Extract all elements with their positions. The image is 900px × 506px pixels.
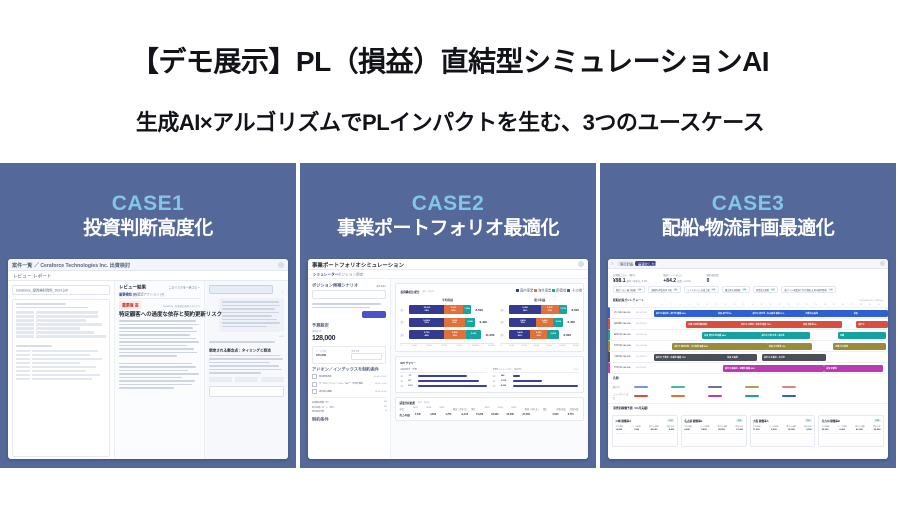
port-metric-label: 最大入港数 <box>718 425 727 428</box>
port-metric-value: 36,000 <box>788 429 795 431</box>
port-metric-label: バース稼働 <box>838 425 847 428</box>
legend-swatch <box>708 386 722 389</box>
legend-swatch <box>745 386 759 389</box>
document-select-value: Ceraforce_投資検討資料_2024.pdf <box>16 287 68 293</box>
port-metric-label: 平均滞船 <box>616 425 624 428</box>
filter-chip[interactable]: 船プール本数割り付け制限・入港可能時間帯ON <box>781 286 836 293</box>
vessel-id: IMO-9488270 <box>636 356 654 358</box>
case1-review-column: レビュー結果 このリスクを一括コピー 重要検知 (8) 確認アクション (4) … <box>115 281 205 459</box>
filter-chip-badge: ON <box>673 289 678 291</box>
time-tick: 21 <box>794 304 802 306</box>
port-metric-values: 9,6005,80038,00012,000 <box>684 429 743 431</box>
gantt-task-label: 荷役 神戸港 6h <box>718 312 731 315</box>
port-status-badge: 注意 <box>874 419 881 422</box>
chart-x-axis: 02,0004,0006,0008,00010,00012,000 <box>500 343 579 347</box>
legend-group-label: ニューポート入れ <box>613 392 629 400</box>
gantt-track: 航行中 鹿島港→室蘭港 積載 88%荷役 室蘭港 <box>654 365 884 372</box>
chat-action-risk[interactable] <box>235 377 258 382</box>
risk-heading: 特定顧客への過度な依存と契約更新リスク <box>119 310 248 318</box>
case-panel-3[interactable]: CASE3 配船・物流計画最適化 ☰ 現行計画 最適化した案 計画総コスト <box>600 163 896 468</box>
slide-page: 【デモ展示】PL（損益）直結型シミュレーションAI 生成AI×アルゴリズムでPL… <box>0 0 900 506</box>
port-card[interactable]: 名古屋 稼働率B良好平均滞船バース稼働最大入港数荷役効率9,6005,80038… <box>681 415 747 447</box>
bottom-title: 制約条件 <box>312 416 424 422</box>
legend-item: その他 <box>572 287 582 293</box>
port-card[interactable]: 川崎 稼働率A良好平均滞船バース稼働最大入港数荷役効率12,8007,90045… <box>612 415 678 447</box>
table-cell: 4,750 <box>445 413 457 417</box>
filter-chip-badge: ON <box>711 289 716 291</box>
gantt-task-label: 航行中 千葉港→水島港 積載 70% <box>656 356 686 359</box>
gantt-task[interactable]: 待機 川崎港 燃料補給 <box>686 321 741 328</box>
case1-tabs: レビュー レポート <box>8 271 288 281</box>
chart-title: 平均利益 <box>400 298 494 302</box>
gantt-task[interactable]: 航行中 水島港→大分港 <box>762 354 826 361</box>
table-header-cell: 2023 <box>485 407 495 411</box>
case1-screenshot: 案件一覧 ／ Ceraforce Technologies Inc. 出資検討 … <box>8 259 288 459</box>
gantt-track: 待機 川崎港 燃料補給航行中 川崎港→博多港 積載 78%荷役 博多港 8h航行… <box>654 321 884 328</box>
port-card-header: 川崎 稼働率A良好 <box>616 419 675 423</box>
tab-review[interactable]: レビュー <box>13 272 32 278</box>
filter-chip-label: 滞船時・荷役効率下限 <box>651 288 671 292</box>
budget-value: 128,000 <box>312 335 386 342</box>
tab-optimized-plan[interactable]: 最適化した案 <box>635 261 655 267</box>
stacked-bar-charts: 平均利益 案1 18,00056% 5,30030% 1,900 8,500 <box>400 298 579 347</box>
table-header-cell: 累計 <box>543 407 553 411</box>
port-metric-label: 最大入港数 <box>786 425 795 428</box>
gantt-task-label: 航行中 四日市港→清水港 <box>762 334 785 337</box>
table-cell: 4,660 <box>430 413 442 417</box>
time-tick: 2 <box>622 304 630 306</box>
filter-chip[interactable]: 滞船時・荷役効率下限ON <box>648 286 681 293</box>
gantt-task-label: 待機 川崎港 燃料補給 <box>688 323 707 326</box>
table-header-cell: 増減（前年比） <box>525 407 540 411</box>
gantt-track: 荷役 四日市港 積載 64%航行中 四日市港→清水港待機 <box>654 332 884 339</box>
table-sub: 単位：百万円 <box>418 401 429 404</box>
case2-tabs: シミュレーター ポジション設定 <box>308 270 588 279</box>
case1-title: 投資判断高度化 <box>0 218 296 241</box>
kpi-right-meta: 前年比 <box>574 368 579 371</box>
checkbox-icon[interactable] <box>312 382 317 387</box>
port-metric-labels: 平均滞船バース稼働最大入港数荷役効率 <box>822 425 881 428</box>
axis-tick: 0 <box>500 345 501 347</box>
kpi-right-title: 予想キャッシュフロー（百万円） <box>493 368 523 371</box>
summary-label: 投資機会総数（件） <box>312 401 330 404</box>
legend-group-label: 航行中 <box>613 385 629 389</box>
axis-tick: 12,000 <box>573 345 579 347</box>
table-header-cell: 2023 <box>413 407 423 411</box>
gantt-task-label: 航行中 鹿島港→室蘭港 積載 88% <box>725 367 755 370</box>
gantt-row[interactable]: ひかり丸 VSL-004IMO-9501433航行中 堺泉北港→苫小牧港 積載 … <box>608 340 888 351</box>
kpi-label: 計画総コスト（億円） <box>613 273 647 277</box>
legend-row: 航行中 <box>608 382 888 392</box>
gantt-task-label: 荷役 水島港 <box>727 356 738 359</box>
legend-swatch <box>634 395 648 398</box>
table-header-cell: 2024 <box>498 407 508 411</box>
legend-row: ニューポート入れ <box>608 392 888 404</box>
case3-filter-chips: 動的コスト最小配船ON滞船時・荷役効率下限ONリアルタイム 充填上限ON積出港入… <box>608 286 888 296</box>
time-tick: 14 <box>730 304 738 306</box>
summary-label: 最大投資リターン（百万） <box>312 406 336 409</box>
port-metric-value: 45,000 <box>651 429 658 431</box>
gantt-task[interactable]: 航行中 千葉港→水島港 積載 70% <box>654 354 727 361</box>
gantt-task[interactable]: 荷役 四日市港 積載 64% <box>702 332 761 339</box>
port-cards: 川崎 稼働率A良好平均滞船バース稼働最大入港数荷役効率12,8007,90045… <box>608 412 888 450</box>
constraint-row[interactable]: 海外拠点・戦略 26,000 / 6,000 <box>312 389 386 394</box>
gantt-task-label: 航行中 水島港→大分港 <box>764 356 785 359</box>
page-title: 【デモ展示】PL（損益）直結型シミュレーションAI <box>0 40 900 80</box>
sensitivity-table: 感度分析結果 単位：百万円 項目202320242025増減（前年比）累計202… <box>395 397 584 421</box>
gantt-task[interactable]: 航行中 <box>856 321 888 328</box>
gantt-task[interactable]: 荷役 水島港 <box>725 354 757 361</box>
table-header-cell: 投資・収支 <box>556 407 566 411</box>
filter-chip-label: 港湾受入制限 <box>756 288 769 292</box>
time-tick: 15 <box>739 304 747 306</box>
port-card[interactable]: 大阪 稼働率A良好平均滞船バース稼働最大入港数荷役効率11,0006,90036… <box>750 415 816 447</box>
gantt-task-label: 待機 <box>840 334 844 337</box>
axis-tick: 8,000 <box>457 345 462 347</box>
filter-chip-label: 動的コスト最小配船 <box>616 288 636 292</box>
gantt-task[interactable]: 荷役 <box>852 310 888 317</box>
case-panel-1[interactable]: CASE1 投資判断高度化 案件一覧 ／ Ceraforce Technolog… <box>0 163 296 468</box>
extra-budget-stepper[interactable] <box>351 353 382 360</box>
review-copy-action[interactable]: このリスクを一括コピー <box>168 284 199 289</box>
axis-tick: 2,000 <box>509 345 514 347</box>
budget-caption: 投資枠合計 <box>312 330 386 333</box>
summary-value: 24 <box>384 401 386 404</box>
chat-timestamp: 10:24 <box>209 336 284 338</box>
constraints-title: アドオン／インデックスを制約条件 <box>312 366 424 372</box>
gantt-task[interactable]: 航行中 堺泉北港→苫小牧港 積載 82% <box>672 343 768 350</box>
time-tick: 12 <box>712 304 720 306</box>
gantt-task[interactable]: 航行中 四日市港→清水港 <box>760 332 810 339</box>
table-header-cell: 増減（前年比） <box>453 407 468 411</box>
port-metric-label: バース稼働 <box>700 425 709 428</box>
constraint-value: 45,000 / 12,000 <box>374 376 387 378</box>
tab-label: 現行計画 <box>620 261 633 267</box>
port-metric-value: 11,000 <box>753 429 760 431</box>
chat-action-detail[interactable] <box>209 377 232 382</box>
legend-item: 国内事業 <box>520 287 533 293</box>
filter-chip[interactable]: 動的コスト最小配船ON <box>613 286 645 293</box>
chat-input[interactable] <box>209 386 284 397</box>
table-header-cell: 回収年数 <box>570 407 580 411</box>
review-tab-actions[interactable]: 確認アクション (4) <box>137 291 164 296</box>
axis-tick: 4,000 <box>427 345 432 347</box>
tab-current-plan[interactable]: 現行計画 <box>617 261 633 267</box>
case-panels: CASE1 投資判断高度化 案件一覧 ／ Ceraforce Technolog… <box>0 163 900 468</box>
gantt-title: 配船計画ガントチャート <box>613 296 649 304</box>
kpi-title: KPI サマリー <box>400 361 579 365</box>
gantt-task[interactable]: 荷役 博多港 8h <box>801 321 842 328</box>
chat-menu-icon[interactable]: ⋮ <box>281 290 284 294</box>
vessel-name: つばさ丸 VSL-005 <box>614 356 636 358</box>
port-metric-label: バース稼働 <box>631 425 640 428</box>
summary-value: 6 <box>385 410 386 413</box>
table-cell: 60,500 <box>507 413 519 417</box>
port-metric-value: 7,900 <box>634 429 639 431</box>
filter-chip-badge: ON <box>770 289 775 291</box>
vessel-name: ひかり丸 VSL-004 <box>614 345 636 347</box>
summary-label: 想定回収年数 <box>312 410 324 413</box>
chat-context-chip[interactable] <box>209 285 273 294</box>
axis-tick: 6,000 <box>534 345 539 347</box>
port-sparkline <box>753 433 812 444</box>
port-status-badge: 良好 <box>805 419 812 422</box>
case1-body: Ceraforce_投資検討資料_2024.pdf <box>8 281 288 459</box>
tab-label: 最適化した案 <box>638 261 658 267</box>
constraint-row[interactable]: 国内新規・既存 45,000 / 12,000 <box>312 374 386 379</box>
gantt-task-label: 待機 苫小牧港 <box>835 345 848 348</box>
vessel-id: IMO-9455206 <box>636 334 654 336</box>
filter-chip-badge: ON <box>742 289 747 291</box>
time-tick: 17 <box>758 304 766 306</box>
gantt-task-label: 航行中 横浜港→神戸港 積載 86% <box>656 312 686 315</box>
table-cell: 3,770 <box>568 413 580 417</box>
chart-header: 投資構成比・配分 <box>400 290 419 294</box>
gantt-task-label: 荷役 <box>854 312 858 315</box>
avatar[interactable] <box>880 261 885 266</box>
allocation-chart-card: 投資構成比・配分 単位：百万円 国内事業 海外事業 新領域 その他 <box>395 283 584 352</box>
document-preview[interactable] <box>12 299 110 457</box>
axis-tick: 4,000 <box>521 345 526 347</box>
scenario-select[interactable] <box>312 290 386 299</box>
legend-swatch <box>708 395 722 398</box>
case3-title: 配船・物流計画最適化 <box>600 218 896 241</box>
filter-chip[interactable]: リアルタイム 充填上限ON <box>684 286 719 293</box>
port-metric-labels: 平均滞船バース稼働最大入港数荷役効率 <box>753 425 812 428</box>
gantt-task-label: 航行中 堺泉北港→苫小牧港 積載 82% <box>674 345 708 348</box>
port-status-badge: 良好 <box>736 419 743 422</box>
gantt-row[interactable]: つばさ丸 VSL-005IMO-9488270航行中 千葉港→水島港 積載 70… <box>608 351 888 362</box>
axis-tick: 10,000 <box>559 345 565 347</box>
port-metric-labels: 平均滞船バース稼働最大入港数荷役効率 <box>616 425 675 428</box>
port-metric-value: 12,800 <box>616 429 623 431</box>
filter-chip[interactable]: 港湾受入制限ON <box>753 286 779 293</box>
kpi-violations: 制約違反数 0 <box>707 273 719 284</box>
constraint-row[interactable]: サービス／ソリューション／ AI・データ分析 領域 38,000 / 9,000 <box>312 382 386 387</box>
base-budget-value: 105,000 <box>316 353 347 357</box>
table-header-cell: 2024 <box>426 407 436 411</box>
port-metric-value: 8,400 <box>669 429 674 431</box>
legend-title: 凡例 <box>608 374 888 382</box>
table-cell: 74,200 <box>476 413 488 417</box>
gantt-track: 航行中 横浜港→神戸港 積載 86%荷役 神戸港 6h航行中 神戸港→名古屋港 … <box>654 310 884 317</box>
case2-label: CASE2 <box>300 193 596 215</box>
gantt-task-label: 荷役 四日市港 積載 64% <box>704 334 726 337</box>
port-metric-value: 5,800 <box>701 429 706 431</box>
gantt-task[interactable]: 航行中 神戸港→名古屋港 積載 91% <box>751 310 806 317</box>
table-header-cell: 累計 <box>471 407 481 411</box>
chart-minimum-profit: 最小利益 案1 9,90054% 5,30031% 1,700 8,000 <box>500 298 579 347</box>
checkbox-icon[interactable] <box>312 374 317 379</box>
case3-label: CASE3 <box>600 193 896 215</box>
review-tab-important[interactable]: 重要検知 (8) <box>119 291 137 296</box>
recalculate-button[interactable] <box>362 311 386 318</box>
gantt-row[interactable]: さくら丸 VSL-001IMO-9412881航行中 横浜港→神戸港 積載 86… <box>608 307 888 318</box>
case1-topbar: 案件一覧 ／ Ceraforce Technologies Inc. 出資検討 <box>8 259 288 271</box>
constraint-label: 国内新規・既存 <box>319 375 372 378</box>
port-name: 北九州 稼働率B <box>822 419 840 423</box>
budget-label: 予算設定 <box>312 322 424 328</box>
case1-chat-column: ⋮ 10:24 <box>205 281 288 459</box>
gantt-row[interactable]: あおば丸 VSL-002IMO-9378112待機 川崎港 燃料補給航行中 川崎… <box>608 318 888 329</box>
port-card[interactable]: 北九州 稼働率B注意平均滞船バース稼働最大入港数荷役効率26,2008,4004… <box>818 415 884 447</box>
chart-title: 最小利益 <box>500 298 579 302</box>
filter-chip-badge: ON <box>828 289 833 291</box>
time-tick: 3 <box>631 304 639 306</box>
port-metric-label: 荷役効率 <box>873 425 881 428</box>
gantt-task[interactable]: 待機 <box>838 332 886 339</box>
filter-chip[interactable]: 積出港入港制限ON <box>722 286 750 293</box>
port-metric-value: 9,600 <box>684 429 689 431</box>
kpi-value: ¥98.1億円 / 前年比 -3.2% <box>613 278 647 284</box>
case1-document-column: Ceraforce_投資検討資料_2024.pdf <box>8 281 115 459</box>
gantt-task[interactable]: 航行中 横浜港→神戸港 積載 86% <box>654 310 718 317</box>
port-metric-values: 26,2008,40041,00020,000 <box>822 429 881 431</box>
case3-topbar: ☰ 現行計画 最適化した案 <box>608 259 888 269</box>
port-sparkline <box>684 433 743 444</box>
case2-title: 事業ポートフォリオ最適化 <box>300 218 596 241</box>
kpi-value: +84.2日数 / +2.1% <box>663 278 690 284</box>
tab-position-settings[interactable]: ポジション設定 <box>338 271 363 277</box>
port-name: 大阪 稼働率A <box>753 419 769 423</box>
filter-chip-badge: ON <box>637 289 642 291</box>
port-metric-value: 9,200 <box>806 429 811 431</box>
case2-topbar: 事業ポートフォリオシミュレーション <box>308 259 588 270</box>
gantt-task[interactable]: 荷役 室蘭港 <box>824 365 883 372</box>
scenario-settings-link[interactable]: 設定を開く <box>376 285 386 288</box>
gantt-task[interactable]: 待機 名古屋港 <box>804 310 854 317</box>
case3-heading: CASE3 配船・物流計画最適化 <box>600 163 896 241</box>
case-panel-2[interactable]: CASE2 事業ポートフォリオ最適化 事業ポートフォリオシミュレーション シミュ… <box>300 163 596 468</box>
case2-screenshot: 事業ポートフォリオシミュレーション シミュレーター ポジション設定 ポジション候… <box>308 259 588 459</box>
time-tick: 30 <box>875 304 883 306</box>
legend-item: 海外事業 <box>538 287 551 293</box>
port-metric-label: 平均滞船 <box>822 425 830 428</box>
gantt-task-label: 荷役 室蘭港 <box>826 367 837 370</box>
gantt-task[interactable]: 荷役 苫小牧港 12h <box>767 343 812 350</box>
table-header-row: 項目202320242025増減（前年比）累計202320242025増減（前年… <box>399 407 580 411</box>
time-tick: 4 <box>640 304 648 306</box>
table-row: 売上・利益4,5404,6604,750+4,15074,20063,90060… <box>399 413 580 417</box>
menu-icon[interactable]: ☰ <box>611 262 614 266</box>
gantt-task[interactable]: 航行中 鹿島港→室蘭港 積載 88% <box>723 365 824 372</box>
time-tick: 6 <box>658 304 666 306</box>
port-name: 川崎 稼働率A <box>616 419 632 423</box>
axis-tick: 8,000 <box>546 345 551 347</box>
table-title: 感度分析結果 <box>399 401 415 405</box>
port-metric-label: 平均滞船 <box>684 425 692 428</box>
document-select[interactable]: Ceraforce_投資検討資料_2024.pdf <box>12 285 110 295</box>
kpi-number: +84.2 <box>663 278 676 284</box>
kpi-number: 0 <box>707 278 719 284</box>
gantt-task[interactable]: 航行中 川崎港→博多港 積載 78% <box>739 321 803 328</box>
gantt-track: 航行中 千葉港→水島港 積載 70%荷役 水島港航行中 水島港→大分港 <box>654 354 884 361</box>
port-metric-values: 12,8007,90045,0008,400 <box>616 429 675 431</box>
constraint-value: 38,000 / 9,000 <box>375 383 387 385</box>
budget-fields: ベース予算 105,000 追加予算 <box>312 346 386 364</box>
gantt-task-label: 航行中 神戸港→名古屋港 積載 91% <box>753 312 785 315</box>
time-tick: 24 <box>821 304 829 306</box>
gantt-task[interactable]: 荷役 神戸港 6h <box>716 310 752 317</box>
case2-body: ポジション候補シナリオ 設定を開く 予算設定 投資枠合計 128,000 <box>308 279 588 459</box>
port-sparkline <box>616 433 675 444</box>
port-metric-label: 荷役効率 <box>804 425 812 428</box>
tab-simulator[interactable]: シミュレーター <box>313 271 338 277</box>
avatar[interactable] <box>578 261 584 267</box>
legend-item: 新領域 <box>556 287 566 293</box>
legend-swatch <box>782 395 796 398</box>
vessel-name: みなと丸 VSL-003 <box>614 334 636 336</box>
time-tick: 10 <box>694 304 702 306</box>
table-header-cell: 2025 <box>511 407 521 411</box>
chevron-down-icon[interactable]: ▾ <box>486 368 487 371</box>
constraint-label: サービス／ソリューション／ AI・データ分析 領域 <box>319 383 373 385</box>
chat-action-summary[interactable] <box>261 377 284 382</box>
gantt-task[interactable]: 待機 苫小牧港 <box>833 343 885 350</box>
case2-app-title: 事業ポートフォリオシミュレーション <box>312 260 404 268</box>
port-name: 名古屋 稼働率B <box>684 419 702 423</box>
scenario-label: ポジション候補シナリオ <box>312 282 358 288</box>
constraint-value: 26,000 / 6,000 <box>375 391 387 393</box>
time-tick: 27 <box>848 304 856 306</box>
page-subtitle: 生成AI×アルゴリズムでPLインパクトを生む、3つのユースケース <box>0 105 900 137</box>
time-tick: 20 <box>785 304 793 306</box>
table-header-cell: 項目 <box>399 407 409 411</box>
case2-heading: CASE2 事業ポートフォリオ最適化 <box>300 163 596 241</box>
tab-report[interactable]: レポート <box>33 272 52 278</box>
port-metric-label: 荷役効率 <box>667 425 675 428</box>
filter-chip-label: 積出港入港制限 <box>725 288 740 292</box>
port-metric-labels: 平均滞船バース稼働最大入港数荷役効率 <box>684 425 743 428</box>
legend-swatch <box>671 386 685 389</box>
port-metric-value: 6,900 <box>771 429 776 431</box>
time-tick: 23 <box>812 304 820 306</box>
time-tick: 28 <box>857 304 865 306</box>
port-card-header: 名古屋 稼働率B良好 <box>684 419 743 423</box>
gantt-task-label: 航行中 川崎港→博多港 積載 78% <box>741 323 771 326</box>
port-metric-label: 荷役効率 <box>735 425 743 428</box>
port-metric-value: 41,000 <box>856 429 863 431</box>
port-metric-label: 最大入港数 <box>855 425 864 428</box>
table-cell: +4,150 <box>461 413 473 417</box>
time-tick: 18 <box>767 304 775 306</box>
vessel-id: IMO-9501433 <box>636 345 654 347</box>
gantt-row[interactable]: みなと丸 VSL-003IMO-9455206荷役 四日市港 積載 64%航行中… <box>608 329 888 340</box>
case1-breadcrumb: 案件一覧 ／ Ceraforce Technologies Inc. 出資検討 <box>12 261 130 269</box>
time-tick: 25 <box>830 304 838 306</box>
chat-section-heading: 想定される懸念点：タイミングと商流 <box>209 347 288 353</box>
port-metric-label: 最大入港数 <box>649 425 658 428</box>
axis-tick: 0 <box>400 345 401 347</box>
summary-value: 18 <box>384 406 386 409</box>
chat-action-buttons <box>209 377 284 382</box>
port-card-header: 北九州 稼働率B注意 <box>822 419 881 423</box>
gantt-meta: 2024年04月01日 〜 04月30日 <box>859 299 883 302</box>
vessel-name: さくら丸 VSL-001 <box>614 312 636 314</box>
vessel-id: IMO-9378112 <box>636 323 654 325</box>
gantt-task-label: 航行中 <box>858 323 864 326</box>
checkbox-icon[interactable] <box>312 389 317 394</box>
risk-source-meta: Ceraforce_投資検討資料 p.12 より <box>163 305 200 309</box>
gantt-task-label: 待機 名古屋港 <box>806 312 819 315</box>
gantt-row[interactable]: やまと丸 VSL-006IMO-9520017航行中 鹿島港→室蘭港 積載 88… <box>608 362 888 373</box>
case2-sidebar: ポジション候補シナリオ 設定を開く 予算設定 投資枠合計 128,000 <box>308 279 391 459</box>
port-metric-label: バース稼働 <box>769 425 778 428</box>
time-tick: 8 <box>676 304 684 306</box>
avatar[interactable] <box>278 262 284 268</box>
port-status-badge: 良好 <box>667 419 674 422</box>
risk-badge: 重要度 高 <box>119 301 142 310</box>
